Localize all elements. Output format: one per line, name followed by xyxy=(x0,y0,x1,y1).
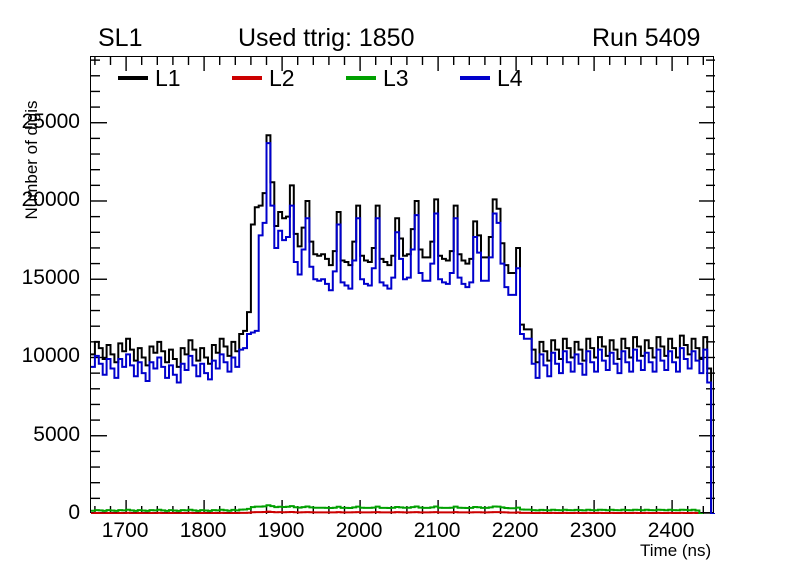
y-tick-label: 5000 xyxy=(0,423,80,447)
y-tick-label: 15000 xyxy=(0,266,80,290)
legend-item-l3[interactable]: L3 xyxy=(346,64,409,92)
x-tick-label: 1800 xyxy=(180,519,227,543)
superlayer-label: SL1 xyxy=(98,26,142,51)
x-tick-label: 2100 xyxy=(414,519,461,543)
x-tick-label: 2300 xyxy=(570,519,617,543)
plot-frame xyxy=(90,56,714,513)
plot-canvas xyxy=(91,57,715,514)
legend-label: L3 xyxy=(383,67,409,90)
series-l4 xyxy=(91,143,715,514)
ttrig-title: Used ttrig: 1850 xyxy=(238,26,415,51)
legend-label: L1 xyxy=(155,67,181,90)
legend-label: L4 xyxy=(497,67,523,90)
y-tick-label: 0 xyxy=(0,501,80,525)
x-axis-title: Time (ns) xyxy=(640,541,711,561)
y-tick-label: 25000 xyxy=(0,110,80,134)
legend-swatch-l1 xyxy=(118,76,148,80)
x-tick-label: 1900 xyxy=(258,519,305,543)
legend-item-l2[interactable]: L2 xyxy=(232,64,295,92)
y-tick-label: 20000 xyxy=(0,188,80,212)
x-tick-label: 2000 xyxy=(336,519,383,543)
axis-ticks xyxy=(91,57,715,514)
legend-item-l1[interactable]: L1 xyxy=(118,64,181,92)
legend-item-l4[interactable]: L4 xyxy=(460,64,523,92)
x-tick-label: 1700 xyxy=(102,519,149,543)
x-tick-label: 2200 xyxy=(492,519,539,543)
y-axis-title: Number of digis xyxy=(22,70,42,250)
chart-page: SL1 Used ttrig: 1850 Run 5409 Number of … xyxy=(0,0,796,572)
legend-label: L2 xyxy=(269,67,295,90)
x-tick-label: 2400 xyxy=(648,519,695,543)
legend-swatch-l2 xyxy=(232,76,262,80)
legend: L1L2L3L4 xyxy=(118,64,588,92)
legend-swatch-l4 xyxy=(460,76,490,80)
y-tick-label: 10000 xyxy=(0,344,80,368)
series-l1 xyxy=(91,135,715,514)
legend-swatch-l3 xyxy=(346,76,376,80)
run-label: Run 5409 xyxy=(592,26,700,51)
series-l2 xyxy=(91,512,703,514)
